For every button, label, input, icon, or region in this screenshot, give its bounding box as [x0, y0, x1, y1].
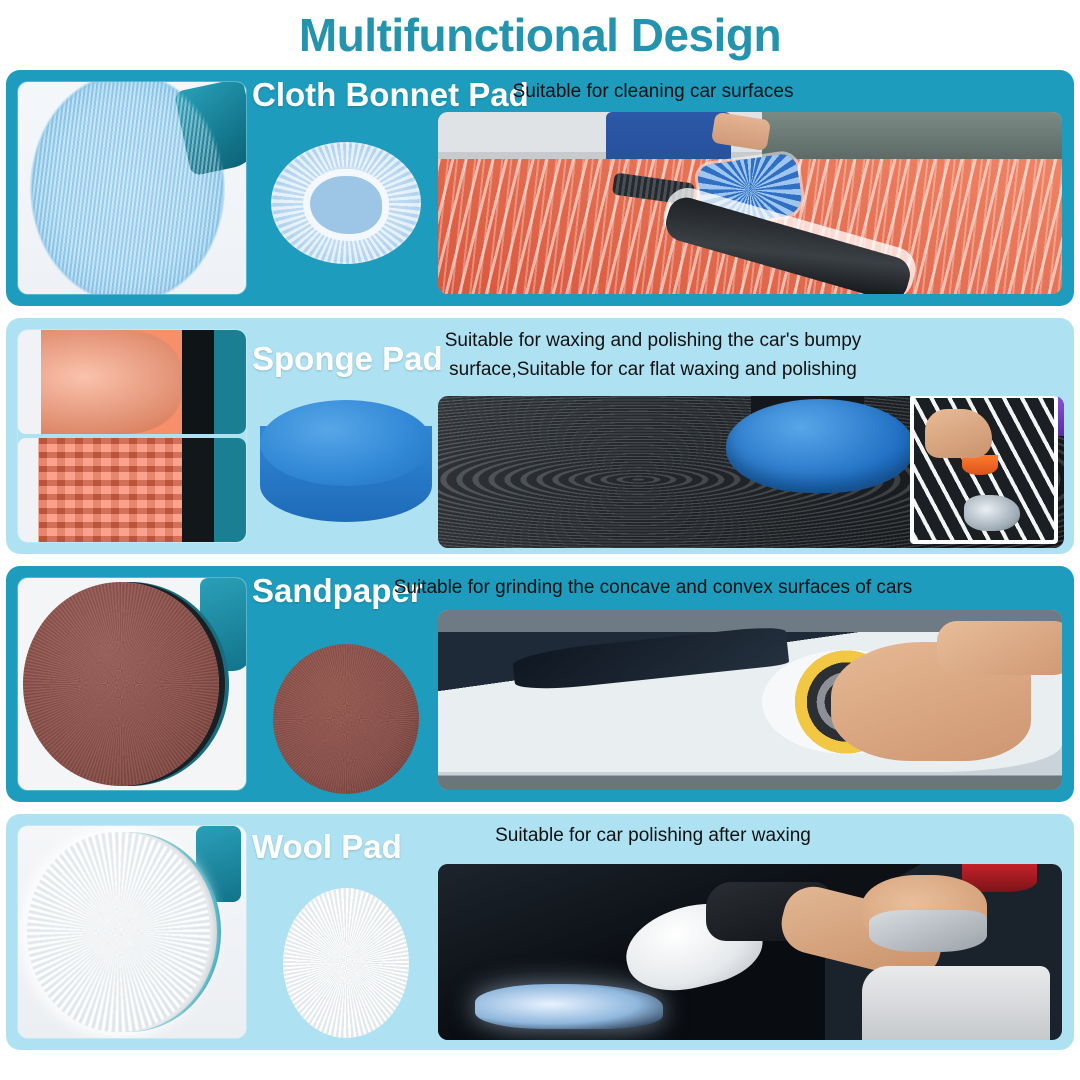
product-thumbnail-sponge-pad: [18, 330, 246, 542]
worker-shirt: [862, 966, 1049, 1040]
flat-orange-sponge: [18, 330, 246, 434]
inset-photo-waxing-car: [914, 398, 1054, 540]
product-cutout-sandpaper: [273, 644, 419, 794]
product-thumbnail-sandpaper: [18, 578, 246, 790]
grit-texture: [23, 582, 219, 786]
photo-flat-sponge-pad: [18, 330, 246, 434]
inset-photo-frame: [910, 396, 1058, 544]
hero-photo-sponge-polishing: [438, 396, 1064, 548]
polisher-body-shape: [196, 826, 242, 902]
page-header: Multifunctional Design: [0, 0, 1080, 70]
hero-photo-car-washing: [438, 112, 1062, 294]
wool-pad-disc: [27, 832, 209, 1031]
bonnet-pad-icon: [271, 142, 421, 264]
polisher-body-shape: [174, 82, 246, 176]
wool-fiber-texture: [27, 832, 209, 1031]
photo-man-polishing-car-hood: [438, 864, 1062, 1040]
panel-cloth-bonnet-pad[interactable]: Cloth Bonnet Pad Suitable for cleaning c…: [6, 70, 1074, 306]
car-headlight: [475, 984, 662, 1030]
panel-description-cloth-bonnet-pad: Suitable for cleaning car surfaces: [242, 78, 1064, 106]
panel-description-wool-pad: Suitable for car polishing after waxing: [242, 822, 1064, 850]
panel-wool-pad[interactable]: Wool Pad Suitable for car polishing afte…: [6, 814, 1074, 1050]
inset-hand: [925, 409, 992, 457]
wool-pad-icon: [283, 888, 409, 1038]
photo-sandpaper-disc-on-polisher: [18, 578, 246, 790]
inset-orange-pad: [962, 455, 998, 475]
second-arm: [937, 621, 1062, 675]
photo-bonnet-pad-on-polisher: [18, 82, 246, 294]
sandpaper-disc-icon: [273, 644, 419, 794]
background-strip: [762, 112, 1062, 159]
panel-description-line-2: surface,Suitable for car flat waxing and…: [242, 355, 1064, 384]
page-title: Multifunctional Design: [299, 8, 781, 62]
foam-pad-top: [260, 400, 432, 486]
blue-polishing-pad: [726, 399, 914, 493]
respirator-mask: [869, 910, 988, 952]
product-thumbnail-cloth-bonnet-pad: [18, 82, 246, 294]
panel-sandpaper[interactable]: Sandpaper Suitable for grinding the conc…: [6, 566, 1074, 802]
product-thumbnail-wool-pad: [18, 826, 246, 1038]
photo-washing-red-car-with-mitt: [438, 112, 1062, 294]
infographic-page: Multifunctional Design Cloth Bonnet Pad …: [0, 0, 1080, 1080]
panel-description-line-1: Suitable for waxing and polishing the ca…: [242, 326, 1064, 355]
photo-blue-pad-on-dark-surface: [438, 396, 1064, 548]
panel-description-sandpaper: Suitable for grinding the concave and co…: [242, 574, 1064, 602]
panel-sponge-pad[interactable]: Sponge Pad Suitable for waxing and polis…: [6, 318, 1074, 554]
product-cutout-sponge-pad: [260, 400, 432, 550]
photo-hands-sanding-car-panel: [438, 610, 1062, 790]
blue-foam-pad-icon: [260, 400, 432, 550]
hero-photo-sanding-car: [438, 610, 1062, 790]
product-cutout-wool-pad: [283, 888, 409, 1038]
sandpaper-disc: [23, 582, 219, 786]
panel-description-sponge-pad: Suitable for waxing and polishing the ca…: [242, 326, 1064, 385]
photo-waffle-sponge-pad: [18, 438, 246, 542]
product-cutout-cloth-bonnet-pad: [271, 142, 421, 264]
inset-headlight: [964, 495, 1020, 532]
photo-wool-pad-on-polisher: [18, 826, 246, 1038]
hero-photo-wool-polishing: [438, 864, 1062, 1040]
panel-list: Cloth Bonnet Pad Suitable for cleaning c…: [0, 70, 1080, 1056]
waffle-orange-sponge: [18, 438, 246, 542]
